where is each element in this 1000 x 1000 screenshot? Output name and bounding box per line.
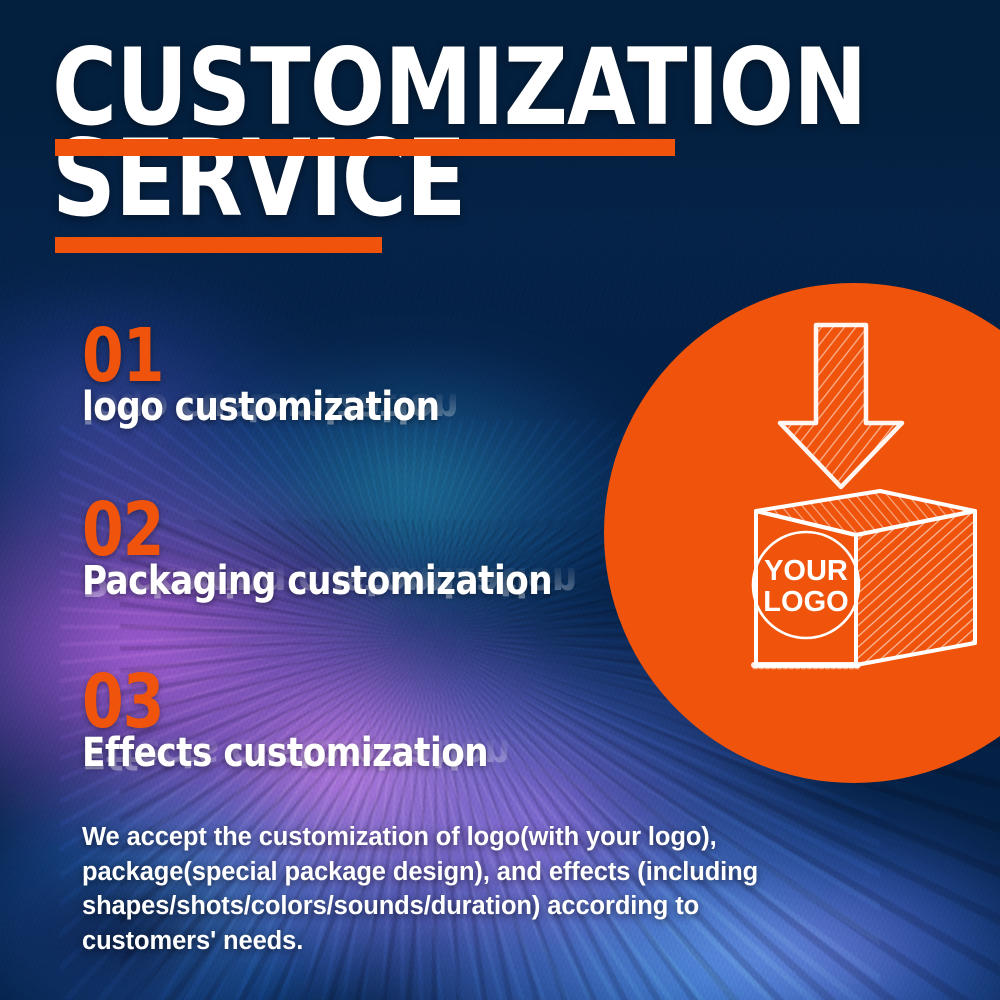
description-line-3: shapes/shots/colors/sounds/duration) acc… [82, 889, 852, 924]
service-item-label-wrap: Effects customization Effects customizat… [82, 733, 510, 774]
promotional-banner: CUSTOMIZATION SERVICE 01 logo customizat… [0, 0, 1000, 1000]
service-item-label: Packaging customization [82, 561, 552, 602]
service-item-label: logo customization [82, 387, 439, 428]
service-item-02: 02 Packaging customization Packaging cus… [82, 500, 577, 601]
service-item-label-wrap: Packaging customization Packaging custom… [82, 561, 577, 602]
description-line-2: package(special package design), and eff… [82, 855, 852, 890]
your-logo-circle: YOUR LOGO [753, 532, 859, 638]
service-item-number: 03 [82, 672, 467, 733]
service-item-number: 01 [82, 326, 421, 387]
description-line-4: customers' needs. [82, 924, 852, 959]
your-logo-line-2: LOGO [763, 586, 848, 618]
service-item-01: 01 logo customization logo customization [82, 326, 458, 427]
service-item-label: Effects customization [82, 733, 488, 774]
your-logo-line-1: YOUR [764, 555, 848, 587]
service-item-03: 03 Effects customization Effects customi… [82, 672, 510, 773]
title-underline-bar-1 [55, 139, 675, 156]
service-item-label-wrap: logo customization logo customization [82, 387, 458, 428]
description-paragraph: We accept the customization of logo(with… [82, 820, 852, 959]
description-line-1: We accept the customization of logo(with… [82, 820, 852, 855]
custom-packaging-illustration: YOUR LOGO [604, 283, 1000, 783]
page-title: CUSTOMIZATION SERVICE [52, 42, 752, 224]
down-arrow-icon [780, 325, 902, 487]
title-underline-bar-2 [55, 237, 382, 253]
service-item-number: 02 [82, 500, 527, 561]
